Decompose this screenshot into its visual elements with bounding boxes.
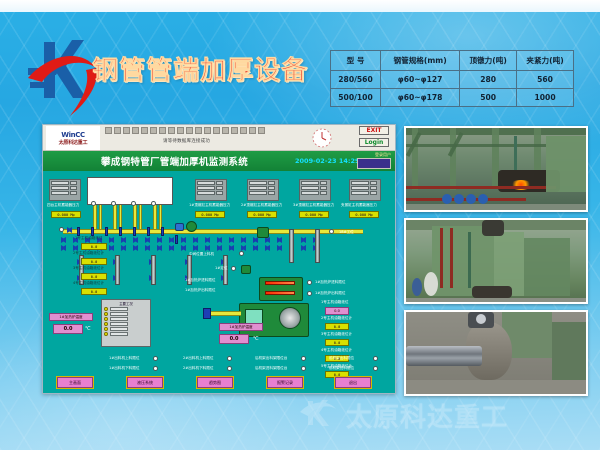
list-item[interactable] [102,322,150,326]
solenoid-valve [217,237,222,243]
machine-clamp [203,308,211,319]
gauge-row [351,181,379,185]
condition-list-panel: 主要工况 [101,299,151,347]
position-lamp [231,266,236,271]
gauge-group-2 [349,179,381,201]
list-value [110,322,128,326]
pump-motor [175,223,184,231]
branch-valve [161,227,164,236]
exit-button[interactable]: EXIT [359,126,389,135]
gauge-cap [370,186,377,190]
gauge-cap [320,181,327,185]
furnace-out-label-left: 1#加热炉出料限位 [185,289,215,293]
branch-valve [77,227,80,236]
readout-label-3: 3号主机油箱液位计 [73,267,104,271]
status-lamp [373,356,378,361]
gauge-value-4: 0.000 Mp [247,211,277,218]
furnace-temp-label: 1#加热炉温度 [219,323,263,331]
slide-root: 钢管管端加厚设备 型 号 钢管规格(mm) 顶镦力(吨) 夹紧力(吨) 280/… [0,0,600,450]
hydraulic-cylinder [115,255,120,285]
settings-icon[interactable] [240,127,247,134]
center-feeder-label: 中间位置上料机 [189,253,214,257]
riser-pipe [99,205,102,231]
branch-valve [91,227,94,236]
list-lamp [104,307,108,311]
refresh-icon[interactable] [231,127,238,134]
cut-icon[interactable] [141,127,148,134]
gauge-cap [320,186,327,190]
gauge-row [249,191,277,195]
chart-icon[interactable] [249,127,256,134]
solenoid-valve [181,237,186,243]
gauge-cap [216,186,223,190]
right-readout-label-4: 4号主机油箱液位计 [321,349,352,353]
gauge-caption-3: 1#顶镦缸主机蓄能器压力 [189,204,230,208]
gauge-bar [249,181,267,185]
gauge-bar [51,191,69,195]
cell-model: 280/560 [331,71,381,89]
station-label: 18#工位 [339,231,354,235]
login-button[interactable]: Login [359,138,389,147]
alarm-icon[interactable] [258,127,265,134]
list-value [110,332,128,336]
solenoid-valve [133,245,138,251]
col-pipe-spec: 钢管规格(mm) [381,51,460,71]
gauge-value-1: 0.000 Mp [51,211,81,218]
col-clamp-force: 夹紧力(吨) [517,51,574,71]
heater-temp-unit: ℃ [85,327,91,332]
solenoid-valve [277,245,282,251]
solenoid-valve [169,237,174,243]
furnace-heat-element [265,281,295,285]
gauge-cap [70,181,77,185]
readout-label-1: 1号主机油箱液位 [75,237,102,241]
right-readout-label-2: 2号主机油箱液位计 [321,317,352,321]
redo-icon[interactable] [132,127,139,134]
gauge-bar [197,181,215,185]
heater-temp-label: 1#加热炉温度 [49,313,93,321]
top-white-strip [0,0,600,12]
list-value [110,312,128,316]
gauge-bar [51,181,69,185]
list-value [110,327,128,331]
list-item[interactable] [102,312,150,316]
center-feeder-lamp [239,251,244,256]
wincc-wordmark: WinCC [61,131,84,139]
button-exit[interactable]: 退出 [335,377,371,388]
hydraulic-cylinder [315,229,320,263]
status-lamp [153,366,158,371]
gauge-bar [301,191,319,195]
status-label-10: 前机架进料限位 [329,367,354,371]
readout-label-4: 4号主机油箱液位计 [73,282,104,286]
status-lamp [153,356,158,361]
status-label-1: 1#出料机上料限位 [109,357,139,361]
vendor-name: 太原科达重工 [59,139,88,146]
riser-pipe [139,205,142,231]
solenoid-valve [205,237,210,243]
toolbar-icon-strip[interactable] [105,127,265,134]
readout-value-2: 0.0 [81,258,107,265]
status-lamp [373,366,378,371]
photo-pipe-closeup [404,310,588,396]
hmi-screenshot-panel: WinCC 太原科达重工 [42,124,396,394]
gauge-row [301,186,329,190]
solenoid-valve [265,245,270,251]
save-icon[interactable] [105,127,112,134]
gauge-row [249,181,277,185]
solenoid-valve [169,245,174,251]
gauge-caption-4: 2#顶镦缸主机蓄能器压力 [241,204,282,208]
button-main-screen[interactable]: 主画面 [57,377,93,388]
solenoid-valve [193,245,198,251]
status-lamp [227,356,232,361]
col-upset-force: 顶镦力(吨) [460,51,517,71]
status-label-2: 1#出料机下料限位 [109,367,139,371]
status-lamp [301,366,306,371]
furnace-in-label: 1#加热炉进料限位 [315,281,345,285]
cell-pipe-spec: φ60~φ178 [381,89,460,107]
cell-upset-force: 500 [460,89,517,107]
toolbar-status-hint: 请等待数据库连接成功 [163,138,210,144]
gauge-bar [351,191,369,195]
gauge-cap [216,181,223,185]
gauge-bar [301,186,319,190]
gauge-row [51,181,79,185]
riser-pipe [113,205,117,231]
gauge-row [51,186,79,190]
solenoid-valve [145,237,150,243]
furnace-indicator-box [241,265,251,274]
table-row: 280/560 φ60~φ127 280 560 [331,71,574,89]
readout-value-3: 0.0 [81,273,107,280]
gauge-row [351,191,379,195]
status-label-4: 2#出料机下料限位 [183,367,213,371]
right-readout-label-3: 3号主机油箱液位计 [321,333,352,337]
solenoid-valve [61,237,66,243]
riser-pipe [153,205,157,231]
flywheel [279,307,301,329]
list-item[interactable] [102,317,150,321]
photo-workshop-overhead [404,126,588,212]
gauge-value-3: 0.000 Mp [195,211,225,218]
gauge-row [197,181,225,185]
gauge-bar [197,191,215,195]
furnace-in-lamp [307,280,312,285]
gauge-bar [197,186,215,190]
page-title: 钢管管端加厚设备 [92,50,308,87]
furnace-temp-value: 0.0 [219,334,249,344]
furnace-out-lamp [307,291,312,296]
solenoid-valve [217,245,222,251]
branch-valve [105,227,108,236]
hmi-title-bar: 攀成钢特管厂管端加厚机监测系统 2009-02-23 14:29:24 登录用户 [43,151,395,171]
list-value [110,317,128,321]
gauge-cap [70,186,77,190]
status-lamp [91,201,96,206]
gauge-group-4 [247,179,279,201]
hydraulic-cylinder [289,229,294,263]
button-hydraulic-system[interactable]: 液压系统 [127,377,163,388]
branch-valve [175,235,178,244]
wincc-logo: WinCC 太原科达重工 [46,126,100,150]
list-lamp [104,317,108,321]
cell-clamp-force: 560 [517,71,574,89]
help-icon[interactable] [222,127,229,134]
gauge-group-3 [195,179,227,201]
gauge-row [301,181,329,185]
solenoid-valve [157,245,162,251]
undo-icon[interactable] [123,127,130,134]
bottom-watermark: 太原科达重工 [300,392,600,438]
gauge-row [351,186,379,190]
status-lamp [151,201,156,206]
oil-tank [87,177,173,205]
group-icon[interactable] [195,127,202,134]
photo-thickening-machine [404,218,588,304]
status-lamp [131,201,136,206]
kd-watermark-logo [300,398,340,432]
list-lamp [104,322,108,326]
spec-table: 型 号 钢管规格(mm) 顶镦力(吨) 夹紧力(吨) 280/560 φ60~φ… [330,50,574,107]
gauge-bar [51,186,69,190]
hmi-system-title: 攀成钢特管厂管端加厚机监测系统 [101,154,248,168]
gauge-caption-1: 四台主机蓄能器压力 [47,204,79,208]
button-alarm-record[interactable]: 报警记录 [267,377,303,388]
solenoid-valve [229,245,234,251]
status-label-9: 前机架出料限位 [329,357,354,361]
align-icon[interactable] [186,127,193,134]
list-item[interactable] [102,327,150,331]
button-trend-chart[interactable]: 趋势图 [197,377,233,388]
kd-logo [26,34,102,122]
right-readout-label-1: 1号主机油箱液位 [321,301,348,305]
table-row: 500/100 φ60~φ178 500 1000 [331,89,574,107]
gauge-row [197,186,225,190]
branch-valve [133,227,136,236]
gauge-cap [268,191,275,195]
gauge-caption-5: 3#顶镦缸主机蓄能器压力 [293,204,334,208]
readout-value-4: 0.0 [81,288,107,295]
col-model: 型 号 [331,51,381,71]
gauge-row [301,191,329,195]
list-lamp [104,312,108,316]
solenoid-valve [109,237,114,243]
solenoid-valve [145,245,150,251]
solenoid-valve [205,245,210,251]
gauge-cap [70,191,77,195]
readout-value-1: 0.0 [81,243,107,250]
gauge-row [197,191,225,195]
solenoid-valve [181,245,186,251]
check-valve [67,227,72,233]
login-user-field[interactable] [357,158,391,169]
status-label-6: 后机架进料架限位台 [255,367,287,371]
analog-clock-icon [311,127,333,149]
list-lamp [104,332,108,336]
solenoid-valve [277,237,282,243]
gauge-bar [249,186,267,190]
hydraulic-cylinder [151,255,156,285]
solenoid-valve [241,237,246,243]
list-value [110,307,128,311]
hmi-mimic-diagram: 四台主机蓄能器压力 0.000 Mp 1#顶镦缸主机蓄能器压力 0.000 Mp… [43,171,395,394]
cell-upset-force: 280 [460,71,517,89]
cell-model: 500/100 [331,89,381,107]
gauge-bar [351,186,369,190]
gauge-group-1 [49,179,81,201]
gauge-cap [370,181,377,185]
suction-valve [59,227,64,232]
station-indicator-box [257,227,269,238]
gauge-cap [320,191,327,195]
solenoid-valve [61,245,66,251]
layer-icon[interactable] [213,127,220,134]
gauge-bar [249,191,267,195]
list-lamp [104,327,108,331]
cell-pipe-spec: φ60~φ127 [381,71,460,89]
solenoid-valve [253,245,258,251]
furnace-out-label: 1#加热炉出料限位 [315,292,345,296]
solenoid-valve [121,245,126,251]
position-label: 1#定位 [215,267,228,271]
hmi-toolbar: WinCC 太原科达重工 [43,125,395,151]
furnace-temp-unit: ℃ [253,337,259,342]
cell-clamp-force: 1000 [517,89,574,107]
watermark-text: 太原科达重工 [346,397,508,434]
solenoid-valve [253,237,258,243]
gauge-cap [216,191,223,195]
right-readout-value-2: 0.0 [325,323,349,330]
solenoid-valve [157,237,162,243]
furnace-in-label-left: 1#加热炉进料限位 [185,279,215,283]
gauge-cap [268,181,275,185]
right-readout-value-3: 0.0 [325,339,349,346]
gauge-bar [351,181,369,185]
status-lamp [111,201,116,206]
solenoid-valve [121,237,126,243]
readout-label-2: 2号主机油箱液位计 [73,252,104,256]
furnace-heat-element [265,291,295,295]
solenoid-valve [301,237,306,243]
heater-temp-value: 0.0 [53,324,83,334]
solenoid-valve [133,237,138,243]
condition-list-title: 主要工况 [102,300,150,307]
paste-icon[interactable] [159,127,166,134]
status-lamp [301,356,306,361]
station-lamp [329,229,334,234]
solenoid-valve [229,237,234,243]
status-label-5: 后机架出料架限位台 [255,357,287,361]
gauge-caption-2: 夹紧缸主机蓄能器压力 [341,204,377,208]
solenoid-valve [109,245,114,251]
gauge-group-5 [299,179,331,201]
branch-valve [147,227,150,236]
gauge-cap [370,191,377,195]
solenoid-valve [193,237,198,243]
pump-impeller [186,221,197,232]
status-lamp [227,366,232,371]
gauge-value-5: 0.000 Mp [299,211,329,218]
table-header-row: 型 号 钢管规格(mm) 顶镦力(吨) 夹紧力(吨) [331,51,574,71]
gauge-row [51,191,79,195]
gauge-value-2: 0.000 Mp [349,211,379,218]
print-icon[interactable] [114,127,121,134]
gauge-bar [301,181,319,185]
gauge-cap [268,186,275,190]
machine-feed-pipe [211,311,241,316]
right-readout-value-1: 0.0 [325,307,349,315]
list-item[interactable] [102,332,150,336]
copy-icon[interactable] [150,127,157,134]
status-label-3: 2#出料机上料限位 [183,357,213,361]
grid-icon[interactable] [177,127,184,134]
solenoid-valve [301,245,306,251]
lock-icon[interactable] [204,127,211,134]
zoom-icon[interactable] [168,127,175,134]
list-item[interactable] [102,307,150,311]
branch-valve [119,227,122,236]
gauge-row [249,186,277,190]
